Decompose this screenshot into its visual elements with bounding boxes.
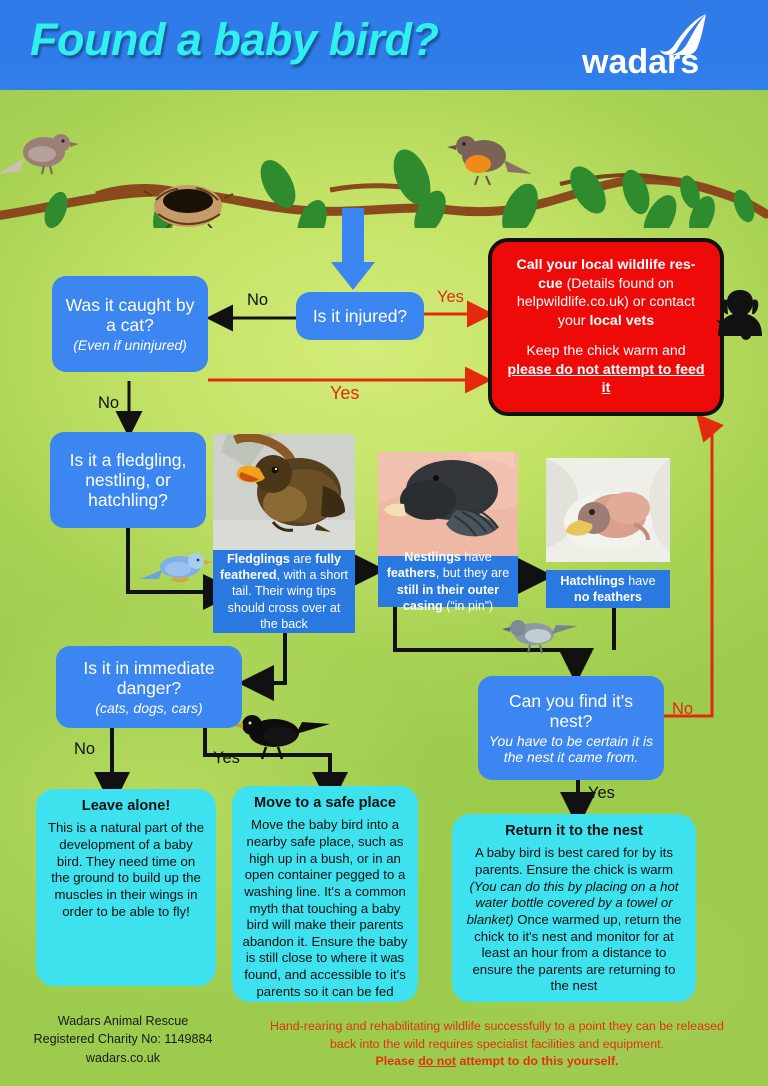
edge-label-cat-yes: Yes	[330, 383, 359, 404]
footer-charity-number: Registered Charity No: 1149884	[18, 1030, 228, 1048]
wadars-logo-text: wadars	[582, 43, 699, 82]
decision-label: Can you find it's nest?	[486, 691, 656, 732]
fledgling-blackbird-photo	[213, 434, 355, 550]
wadars-logo: wadars	[574, 18, 754, 80]
outcome-title: Return it to the nest	[462, 822, 686, 840]
outcome-line-1: A baby bird is best cared for by its par…	[475, 845, 673, 877]
outcome-move-to-safe-place[interactable]: Move to a safe place Move the baby bird …	[232, 786, 418, 1002]
edge-label-danger-no: No	[74, 740, 95, 759]
decision-label: Is it in immediate danger?	[64, 658, 234, 699]
decision-label: Was it caught by a cat?	[60, 295, 200, 336]
decision-is-it-injured[interactable]: Is it injured?	[296, 292, 424, 340]
footer-charity-info: Wadars Animal Rescue Registered Charity …	[18, 1012, 228, 1067]
infographic-poster: Found a baby bird? wadars	[0, 0, 768, 1086]
caption-text: Fledglings are fully feathered, with a s…	[219, 551, 349, 633]
decision-label: Is it injured?	[313, 306, 407, 326]
decision-caught-by-cat[interactable]: Was it caught by a cat? (Even if uninjur…	[52, 276, 208, 372]
decision-sublabel: (cats, dogs, cars)	[95, 700, 202, 716]
outcome-return-to-nest[interactable]: Return it to the nest A baby bird is bes…	[452, 814, 696, 1002]
edge-label-nest-yes: Yes	[588, 784, 615, 803]
footer-warning-line3: Please do not attempt to do this yoursel…	[232, 1053, 762, 1071]
outcome-title: Leave alone!	[46, 797, 206, 815]
footer-org: Wadars Animal Rescue	[18, 1012, 228, 1030]
hatchling-chick-photo	[546, 458, 670, 562]
poster-header: Found a baby bird? wadars	[0, 0, 768, 90]
outcome-title: Move to a safe place	[242, 794, 408, 812]
footer-warning-line2: back into the wild requires specialist f…	[232, 1036, 762, 1054]
perched-robin-icon	[447, 136, 532, 185]
page-title: Found a baby bird?	[30, 14, 438, 66]
decision-fledgling-nestling-hatchling[interactable]: Is it a fledgling, nestling, or hatchlin…	[50, 432, 206, 528]
edge-label-injured-no: No	[247, 291, 268, 310]
footer-warning: Hand-rearing and rehabilitating wildlife…	[232, 1018, 762, 1071]
edge-label-danger-yes: Yes	[213, 749, 240, 768]
edge-label-injured-yes: Yes	[437, 288, 464, 307]
decision-sublabel: You have to be certain it is the nest it…	[486, 733, 656, 765]
decision-sublabel: (Even if uninjured)	[73, 337, 187, 353]
perched-sparrow-icon	[0, 134, 79, 174]
edge-label-cat-no: No	[98, 394, 119, 413]
emergency-line-1: Call your local wildlife res-cue (Detail…	[506, 256, 706, 330]
outcome-body: This is a natural part of the developmen…	[48, 820, 204, 918]
emergency-keep-warm: Keep the chick warm and	[526, 343, 685, 359]
caption-fledgling: Fledglings are fully feathered, with a s…	[213, 550, 355, 633]
caption-text: Nestlings have feathers, but they are st…	[384, 549, 512, 614]
decision-immediate-danger[interactable]: Is it in immediate danger? (cats, dogs, …	[56, 646, 242, 728]
footer-website: wadars.co.uk	[18, 1049, 228, 1067]
emergency-line-2: Keep the chick warm and please do not at…	[506, 342, 706, 397]
branch-decoration	[0, 88, 768, 228]
emergency-bold-vets: local vets	[589, 313, 654, 329]
nestling-chick-photo	[378, 452, 518, 556]
decision-can-you-find-nest[interactable]: Can you find it's nest? You have to be c…	[478, 676, 664, 780]
caption-hatchling: Hatchlings have no feathers	[546, 570, 670, 608]
caption-nestling: Nestlings have feathers, but they are st…	[378, 556, 518, 607]
outcome-leave-alone[interactable]: Leave alone! This is a natural part of t…	[36, 789, 216, 986]
edge-label-nest-no: No	[672, 700, 693, 719]
caption-text: Hatchlings have no feathers	[552, 573, 664, 606]
emergency-do-not-feed: please do not attempt to feed it	[507, 362, 704, 396]
footer-warning-line1: Hand-rearing and rehabilitating wildlife…	[232, 1018, 762, 1036]
emergency-call-rescue-box[interactable]: Call your local wildlife res-cue (Detail…	[488, 238, 724, 416]
outcome-body: Move the baby bird into a nearby safe pl…	[243, 817, 408, 998]
vet-with-stethoscope-icon	[716, 286, 764, 344]
decision-label: Is it a fledgling, nestling, or hatchlin…	[58, 450, 198, 511]
